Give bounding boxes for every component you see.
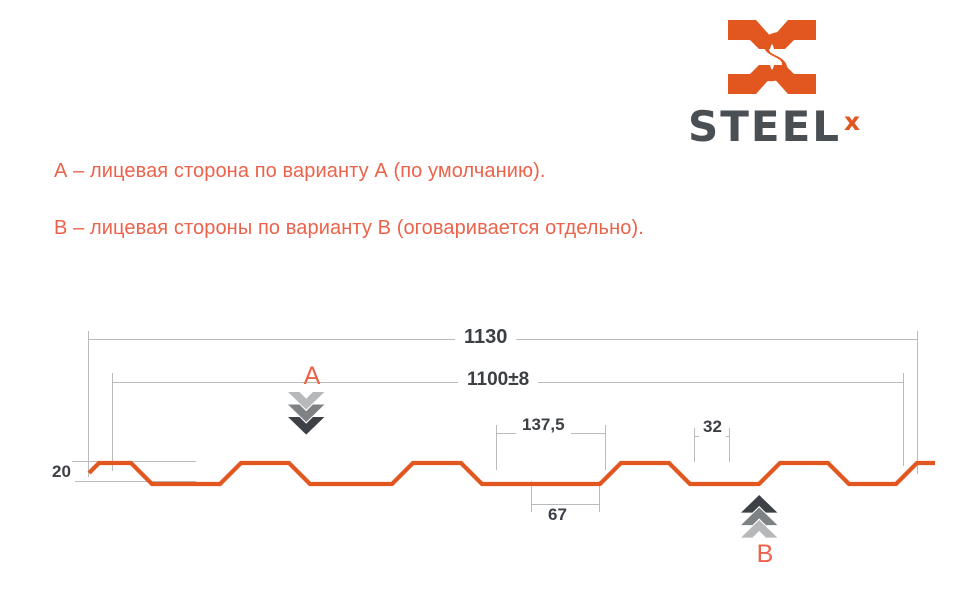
marker-label-b: В — [745, 540, 785, 569]
dimension-label-rib-pitch: 137,5 — [516, 415, 571, 435]
dimension-label-overall-width: 1130 — [455, 326, 516, 349]
marker-label-a: А — [292, 362, 332, 391]
marker-a-chevrons — [288, 392, 324, 435]
dimension-label-working-width: 1100±8 — [458, 369, 538, 391]
dimension-label-profile-height: 20 — [48, 462, 75, 482]
dimension-label-rib-top-width: 32 — [699, 417, 726, 437]
profile-technical-drawing: 1130 1100±8 137,5 32 67 20 А В — [0, 0, 970, 597]
dimension-label-valley-width: 67 — [543, 505, 572, 525]
marker-b-chevrons — [741, 495, 777, 538]
profile-polyline — [89, 463, 935, 484]
